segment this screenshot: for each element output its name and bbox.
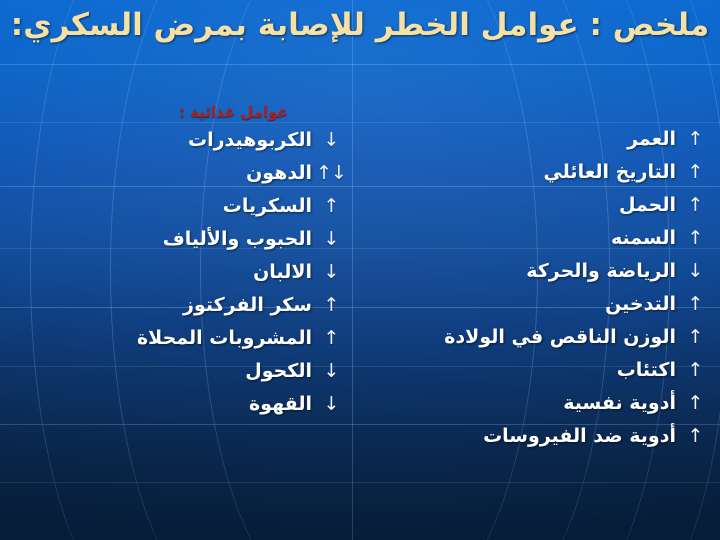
risk-factors-dietary-column: عوامل غذائية : ↓ الكربوهيدرات ↓↑ الدهون … xyxy=(123,103,348,428)
list-item-label: الوزن الناقص في الولادة xyxy=(444,328,678,347)
list-item: ↓ الحبوب والألياف xyxy=(123,230,348,263)
trend-arrow-icon: ↓ xyxy=(314,230,348,249)
trend-arrow-icon: ↑ xyxy=(678,229,712,248)
trend-arrow-icon: ↑ xyxy=(314,296,348,315)
list-item-label: الدهون xyxy=(123,164,314,183)
list-item: ↑ الحمل xyxy=(452,196,712,229)
list-item: ↓ الرياضة والحركة xyxy=(452,262,712,295)
list-item: ↑ العمر xyxy=(452,130,712,163)
latitude-line xyxy=(0,64,720,65)
trend-arrow-icon: ↑ xyxy=(678,196,712,215)
list-item-label: المشروبات المحلاة xyxy=(123,329,314,348)
trend-arrow-icon: ↓ xyxy=(314,395,348,414)
list-item-label: أدوية نفسية xyxy=(452,394,678,413)
list-item: ↑ التدخين xyxy=(452,295,712,328)
list-item: ↓ الالبان xyxy=(123,263,348,296)
trend-arrow-icon: ↑ xyxy=(678,295,712,314)
list-item-label: أدوية ضد الفيروسات xyxy=(452,427,678,446)
trend-arrow-icon: ↑ xyxy=(678,427,712,446)
list-item-label: الحمل xyxy=(452,196,678,215)
latitude-line xyxy=(0,122,720,123)
list-item-label: الالبان xyxy=(123,263,314,282)
list-item: ↑ التاريخ العائلي xyxy=(452,163,712,196)
list-item: ↑ المشروبات المحلاة xyxy=(123,329,348,362)
list-item-label: الحبوب والألياف xyxy=(123,230,314,249)
list-item: ↓↑ الدهون xyxy=(123,164,348,197)
trend-arrow-icon: ↓ xyxy=(314,131,348,150)
list-item-label: العمر xyxy=(452,130,678,149)
trend-arrow-icon: ↑ xyxy=(314,329,348,348)
list-item-label: التدخين xyxy=(452,295,678,314)
list-item: ↑ السمنه xyxy=(452,229,712,262)
page-title: ملخص : عوامل الخطر للإصابة بمرض السكري: xyxy=(0,6,720,46)
list-item-label: التاريخ العائلي xyxy=(452,163,678,182)
list-item: ↑ اكتئاب xyxy=(452,361,712,394)
list-item-label: الكربوهيدرات xyxy=(123,131,314,150)
trend-arrow-icon: ↓ xyxy=(314,263,348,282)
list-item: ↓ القهوة xyxy=(123,395,348,428)
meridian-line xyxy=(352,0,353,540)
list-item: ↑ السكريات xyxy=(123,197,348,230)
trend-arrow-icon: ↓ xyxy=(678,262,712,281)
list-item: ↓ الكربوهيدرات xyxy=(123,131,348,164)
list-item: ↓ الكحول xyxy=(123,362,348,395)
trend-arrow-icon: ↑ xyxy=(678,361,712,380)
list-item-label: السمنه xyxy=(452,229,678,248)
trend-arrow-icon: ↓↑ xyxy=(314,164,348,183)
list-item: ↑ سكر الفركتوز xyxy=(123,296,348,329)
trend-arrow-icon: ↑ xyxy=(678,328,712,347)
slide-canvas: ملخص : عوامل الخطر للإصابة بمرض السكري: … xyxy=(0,0,720,540)
trend-arrow-icon: ↑ xyxy=(678,394,712,413)
trend-arrow-icon: ↑ xyxy=(678,163,712,182)
risk-factors-general-column: ↑ العمر ↑ التاريخ العائلي ↑ الحمل ↑ السم… xyxy=(452,130,712,460)
list-item-label: القهوة xyxy=(123,395,314,414)
list-item-label: الرياضة والحركة xyxy=(452,262,678,281)
list-item-label: سكر الفركتوز xyxy=(123,296,314,315)
trend-arrow-icon: ↑ xyxy=(314,197,348,216)
list-item-label: السكريات xyxy=(123,197,314,216)
list-item-label: الكحول xyxy=(123,362,314,381)
list-item: ↑ الوزن الناقص في الولادة xyxy=(452,328,712,361)
dietary-section-header: عوامل غذائية : xyxy=(123,103,348,121)
latitude-line xyxy=(0,482,720,483)
trend-arrow-icon: ↑ xyxy=(678,130,712,149)
list-item-label: اكتئاب xyxy=(452,361,678,380)
trend-arrow-icon: ↓ xyxy=(314,362,348,381)
list-item: ↑ أدوية نفسية xyxy=(452,394,712,427)
list-item: ↑ أدوية ضد الفيروسات xyxy=(452,427,712,460)
